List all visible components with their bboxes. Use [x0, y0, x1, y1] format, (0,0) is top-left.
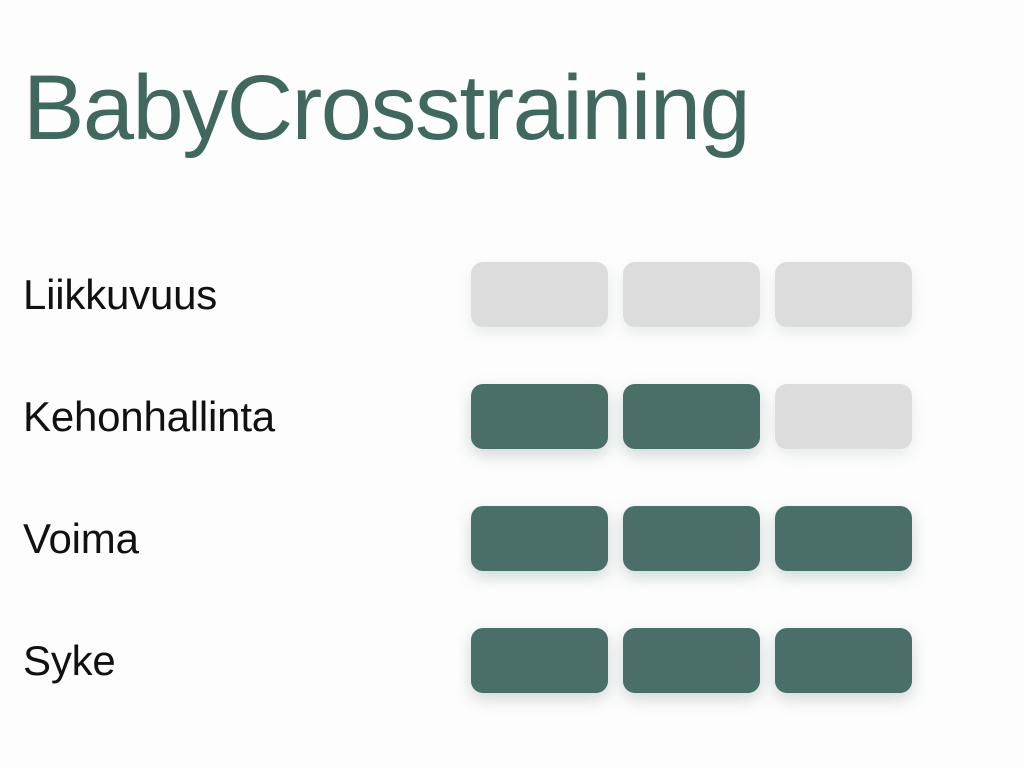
- rating-row: Syke: [0, 618, 1024, 740]
- rating-row: Kehonhallinta: [0, 374, 1024, 496]
- segment-3-filled[interactable]: [775, 506, 912, 571]
- segment-3-empty[interactable]: [775, 262, 912, 327]
- segment-1-filled[interactable]: [471, 506, 608, 571]
- rating-label-kehonhallinta: Kehonhallinta: [23, 374, 275, 460]
- segment-1-empty[interactable]: [471, 262, 608, 327]
- intensity-infographic: BabyCrosstraining Liikkuvuus Kehonhallin…: [0, 0, 1024, 768]
- segment-3-empty[interactable]: [775, 384, 912, 449]
- segment-2-filled[interactable]: [623, 384, 760, 449]
- rating-row: Voima: [0, 496, 1024, 618]
- page-title: BabyCrosstraining: [23, 62, 749, 154]
- segment-1-filled[interactable]: [471, 384, 608, 449]
- segment-2-filled[interactable]: [623, 506, 760, 571]
- segment-2-empty[interactable]: [623, 262, 760, 327]
- segment-track-kehonhallinta: [471, 384, 912, 449]
- rating-row: Liikkuvuus: [0, 252, 1024, 374]
- segment-track-liikkuvuus: [471, 262, 912, 327]
- segment-track-voima: [471, 506, 912, 571]
- segment-3-filled[interactable]: [775, 628, 912, 693]
- rating-list: Liikkuvuus Kehonhallinta Voima: [0, 252, 1024, 740]
- rating-label-voima: Voima: [23, 496, 139, 582]
- segment-2-filled[interactable]: [623, 628, 760, 693]
- segment-track-syke: [471, 628, 912, 693]
- segment-1-filled[interactable]: [471, 628, 608, 693]
- rating-label-syke: Syke: [23, 618, 116, 704]
- rating-label-liikkuvuus: Liikkuvuus: [23, 252, 217, 338]
